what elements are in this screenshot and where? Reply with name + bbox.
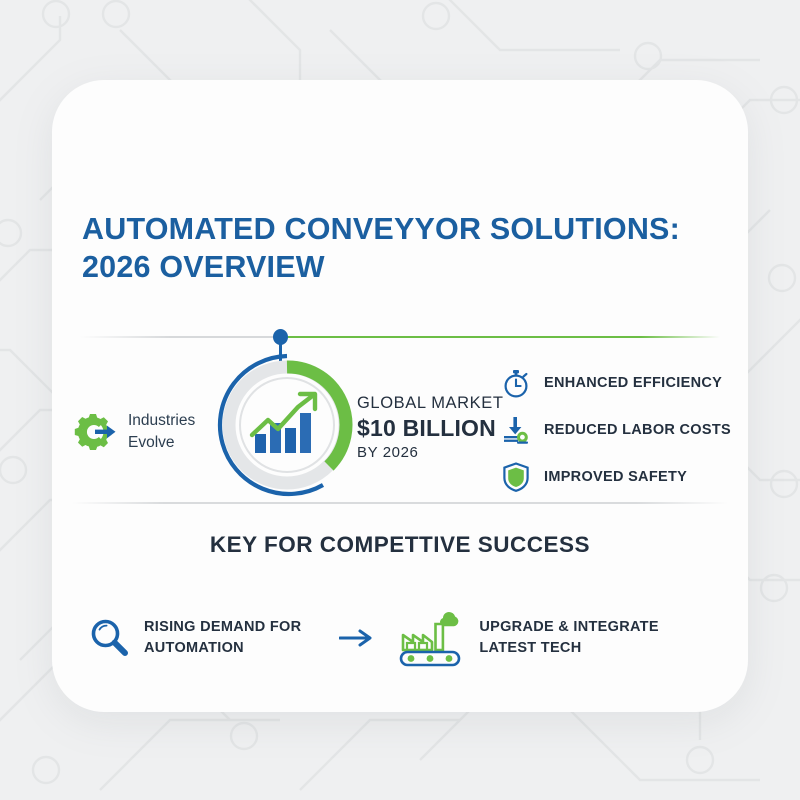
divider-top-gray — [80, 336, 280, 338]
infographic-card: AUTOMATED CONVEYYOR SOLUTIONS: 2026 OVER… — [52, 80, 748, 712]
bottom-item-label: RISING DEMAND FOR AUTOMATION — [144, 617, 301, 659]
industries-evolve-item: Industries Evolve — [72, 410, 195, 453]
benefit-label: IMPROVED SAFETY — [544, 469, 687, 485]
bottom-right-line-2: LATEST TECH — [479, 638, 658, 659]
benefit-item-reduced-labor-costs: REDUCED LABOR COSTS — [502, 415, 731, 445]
cost-reduction-icon — [502, 415, 530, 445]
industries-evolve-line-1: Industries — [128, 410, 195, 432]
bottom-row: RISING DEMAND FOR AUTOMATION — [88, 608, 718, 668]
benefit-item-improved-safety: IMPROVED SAFETY — [502, 462, 731, 492]
gear-arrow-icon — [72, 412, 116, 452]
industries-evolve-line-2: Evolve — [128, 432, 195, 454]
bottom-right-line-1: UPGRADE & INTEGRATE — [479, 617, 658, 638]
industries-evolve-label: Industries Evolve — [128, 410, 195, 453]
shield-icon — [502, 462, 530, 492]
title-line-2: 2026 OVERVIEW — [82, 248, 682, 286]
bottom-left-line-2: AUTOMATION — [144, 638, 301, 659]
divider-top-green — [280, 336, 720, 338]
benefit-label: REDUCED LABOR COSTS — [544, 422, 731, 438]
market-stat-block: GLOBAL MARKET $10 BILLION BY 2026 — [357, 392, 504, 463]
market-stat-label-top: GLOBAL MARKET — [357, 392, 504, 414]
growth-bar-chart-icon — [252, 394, 315, 453]
benefits-list: ENHANCED EFFICIENCY REDUCED LABOR COSTS … — [502, 368, 731, 492]
arrow-right-icon — [339, 627, 373, 649]
factory-conveyor-icon — [399, 608, 465, 668]
title-line-1: AUTOMATED CONVEYYOR SOLUTIONS: — [82, 210, 682, 248]
benefit-label: ENHANCED EFFICIENCY — [544, 375, 722, 391]
stopwatch-icon — [502, 368, 530, 398]
bottom-left-line-1: RISING DEMAND FOR — [144, 617, 301, 638]
section-heading: KEY FOR COMPETTIVE SUCCESS — [52, 532, 748, 558]
bottom-item-rising-demand: RISING DEMAND FOR AUTOMATION — [88, 617, 301, 659]
market-donut-chart — [212, 350, 362, 500]
page-title: AUTOMATED CONVEYYOR SOLUTIONS: 2026 OVER… — [82, 210, 682, 286]
market-stat-label-bottom: BY 2026 — [357, 443, 504, 463]
bottom-item-upgrade-integrate: UPGRADE & INTEGRATE LATEST TECH — [399, 608, 658, 668]
divider-bottom — [72, 502, 728, 504]
magnifier-icon — [88, 617, 130, 659]
bottom-item-label: UPGRADE & INTEGRATE LATEST TECH — [479, 617, 658, 659]
benefit-item-enhanced-efficiency: ENHANCED EFFICIENCY — [502, 368, 731, 398]
market-stat-value: $10 BILLION — [357, 414, 504, 443]
